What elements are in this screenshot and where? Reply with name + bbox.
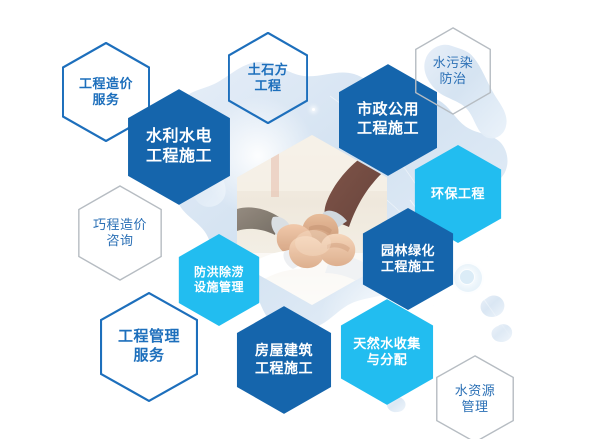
hexagon-landscape-greening-construction[interactable]: 园林绿化 工程施工: [362, 207, 454, 311]
hexagon-shape-icon: [362, 207, 454, 311]
hexagon-water-resource-management[interactable]: 水资源 管理: [436, 355, 514, 439]
hexagon-shape-icon: [100, 292, 198, 402]
hexagon-building-construction-engineering[interactable]: 房屋建筑 工程施工: [236, 305, 332, 415]
hexagon-earthwork-engineering[interactable]: 土石方 工程: [228, 32, 308, 124]
hexagon-shape-icon: [436, 355, 514, 439]
infographic-canvas: 工程造价 服务土石方 工程水利水电 工程施工市政公用 工程施工水污染 防治环保工…: [0, 0, 600, 439]
hexagon-water-pollution-control[interactable]: 水污染 防治: [415, 27, 491, 115]
hexagon-shape-icon: [415, 27, 491, 115]
hexagon-shape-icon: [236, 305, 332, 415]
hexagon-shape-icon: [228, 32, 308, 124]
hexagon-engineering-management-service[interactable]: 工程管理 服务: [100, 292, 198, 402]
hexagon-shape-icon: [340, 298, 434, 406]
hexagon-shape-icon: [78, 185, 162, 281]
hexagon-natural-water-collection-distribution[interactable]: 天然水收集 与分配: [340, 298, 434, 406]
network-node-inner-icon: [459, 269, 475, 285]
hexagon-engineering-cost-consulting[interactable]: 巧程造价 咨询: [78, 185, 162, 281]
